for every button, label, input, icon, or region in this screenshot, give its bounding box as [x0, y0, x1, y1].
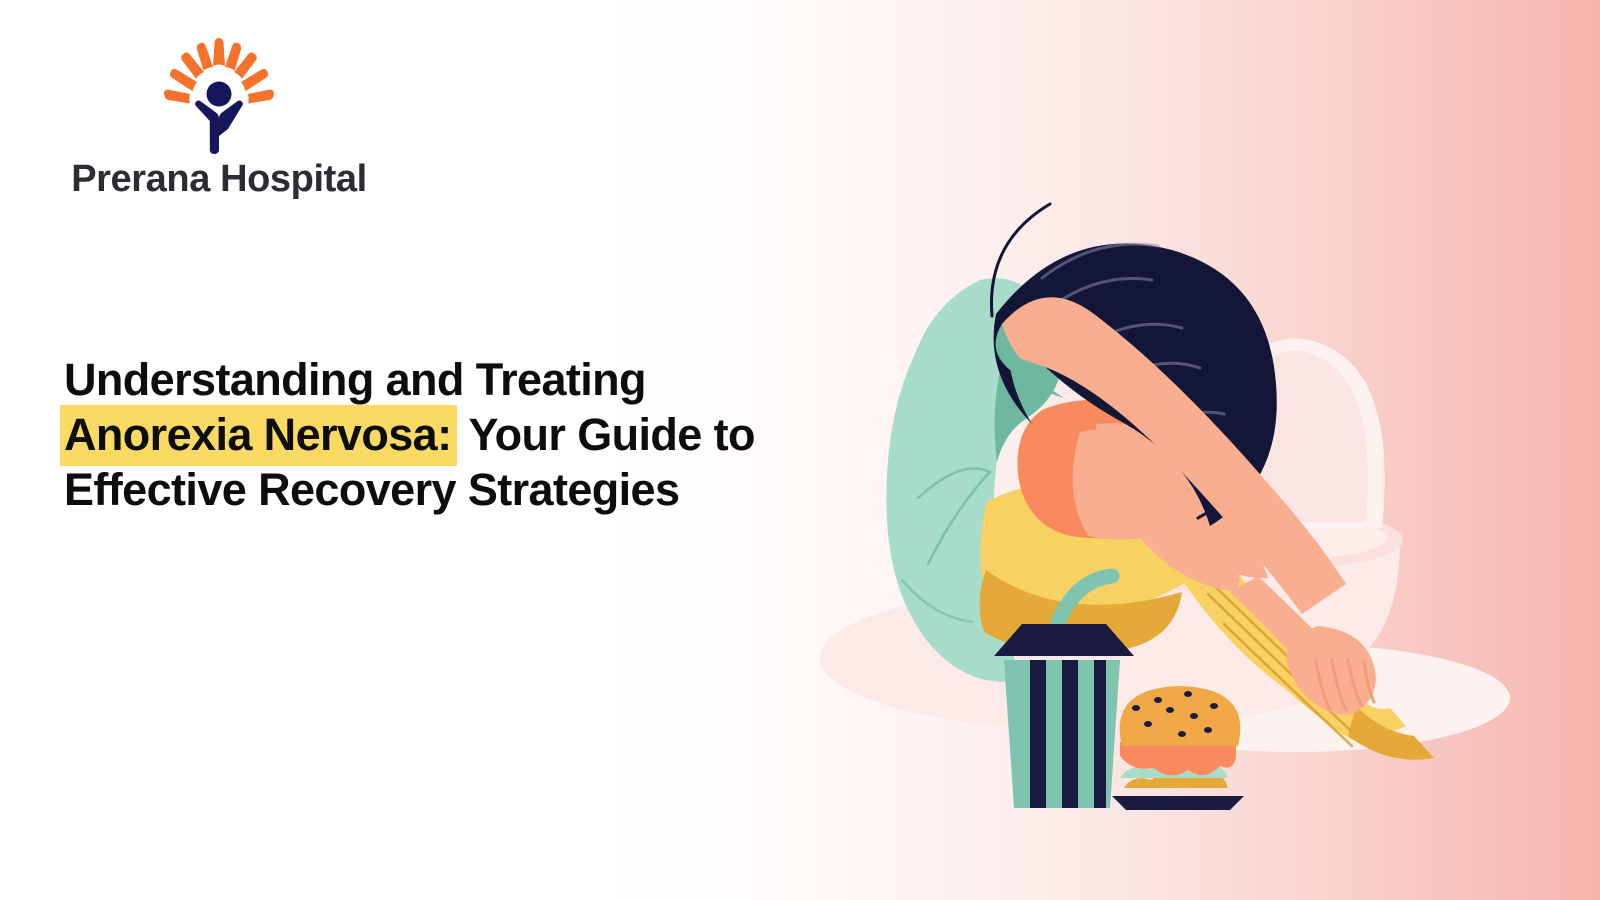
- headline-line-3: Effective Recovery Strategies: [64, 464, 679, 515]
- headline-line-1: Understanding and Treating: [64, 354, 646, 405]
- sunburst-person-icon: [156, 36, 282, 154]
- anorexia-illustration-svg: [790, 110, 1570, 810]
- hero-illustration: [790, 110, 1570, 810]
- burger: [1112, 686, 1244, 810]
- page-title: Understanding and TreatingAnorexia Nervo…: [64, 352, 824, 517]
- headline-after-highlight: Your Guide to: [457, 409, 754, 460]
- brand-wordmark: Prerana Hospital: [64, 158, 374, 201]
- hero-banner: Prerana Hospital Understanding and Treat…: [0, 0, 1600, 900]
- burger-tray: [1112, 796, 1244, 810]
- brand-logo[interactable]: Prerana Hospital: [64, 36, 374, 201]
- headline-highlight: Anorexia Nervosa:: [60, 405, 457, 466]
